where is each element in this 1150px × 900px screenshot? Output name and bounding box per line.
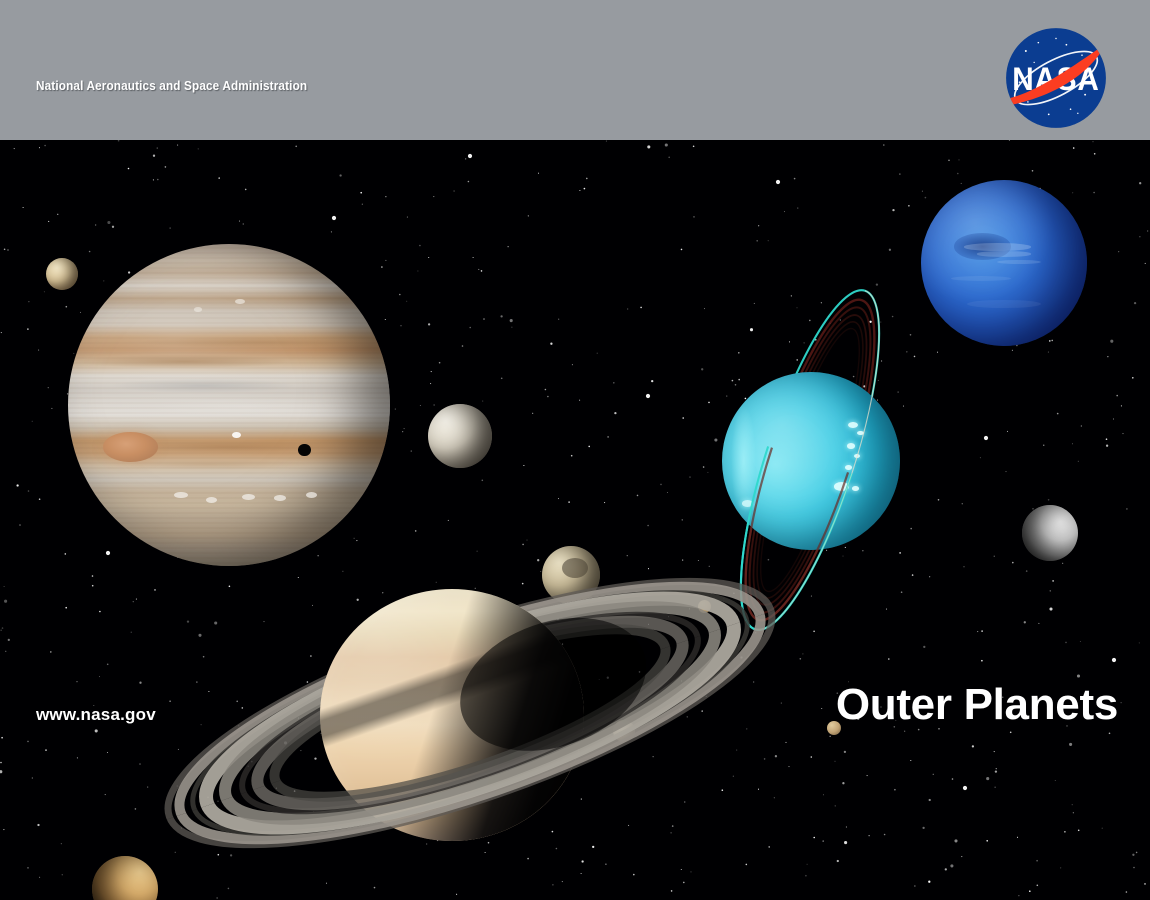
moon-shadow-transit [298,444,311,457]
uranus-disc [722,372,900,550]
uranus-cloud-spot [834,482,849,490]
neptune-cloud-streak [964,243,1030,250]
uranus-cloud-spot [845,465,852,470]
jupiter-white-oval [242,494,255,500]
neptune-cloud-streak [997,260,1040,264]
uranus-cloud-spot [857,431,864,436]
ganymede-dark-terrain [562,558,588,578]
planet-jupiter [68,244,390,566]
saturn-disc [320,589,584,841]
nasa-meatball-logo[interactable]: NASA [1004,26,1108,130]
jupiter-white-oval [206,497,217,503]
moon-io [46,258,78,290]
moon-europa [428,404,492,468]
neptune-cloud-streak [951,276,1011,281]
poster-subtitle: Outer Planets [836,680,1118,730]
uranus-cloud-spot [847,443,855,448]
moon-triton [1022,505,1078,561]
jupiter-disc [68,244,390,566]
neptune-cloud-streak [967,300,1040,308]
saturn-terminator [320,589,584,841]
agency-name: National Aeronautics and Space Administr… [36,79,307,93]
jupiter-white-oval [235,299,245,304]
header-band: National Aeronautics and Space Administr… [0,0,1150,140]
uranus-cloud-spot [848,422,858,428]
uranus-cloud-spot [854,454,860,458]
starfield-background [0,140,1150,900]
jupiter-white-oval [274,495,286,501]
nasa-website-link[interactable]: www.nasa.gov [36,705,156,725]
jupiter-white-oval [194,307,202,312]
planet-neptune [921,180,1087,346]
jupiter-cloud-bands [68,244,390,566]
nasa-solar-system-poster: The Solar System Outer Planets www.nasa.… [0,0,1150,900]
planet-saturn [140,553,800,853]
great-red-spot [103,432,158,462]
jupiter-white-oval [306,492,317,498]
uranus-cloud-spot [852,486,859,491]
neptune-cloud-streak [977,251,1030,256]
uranus-cloud-spot [742,500,754,506]
